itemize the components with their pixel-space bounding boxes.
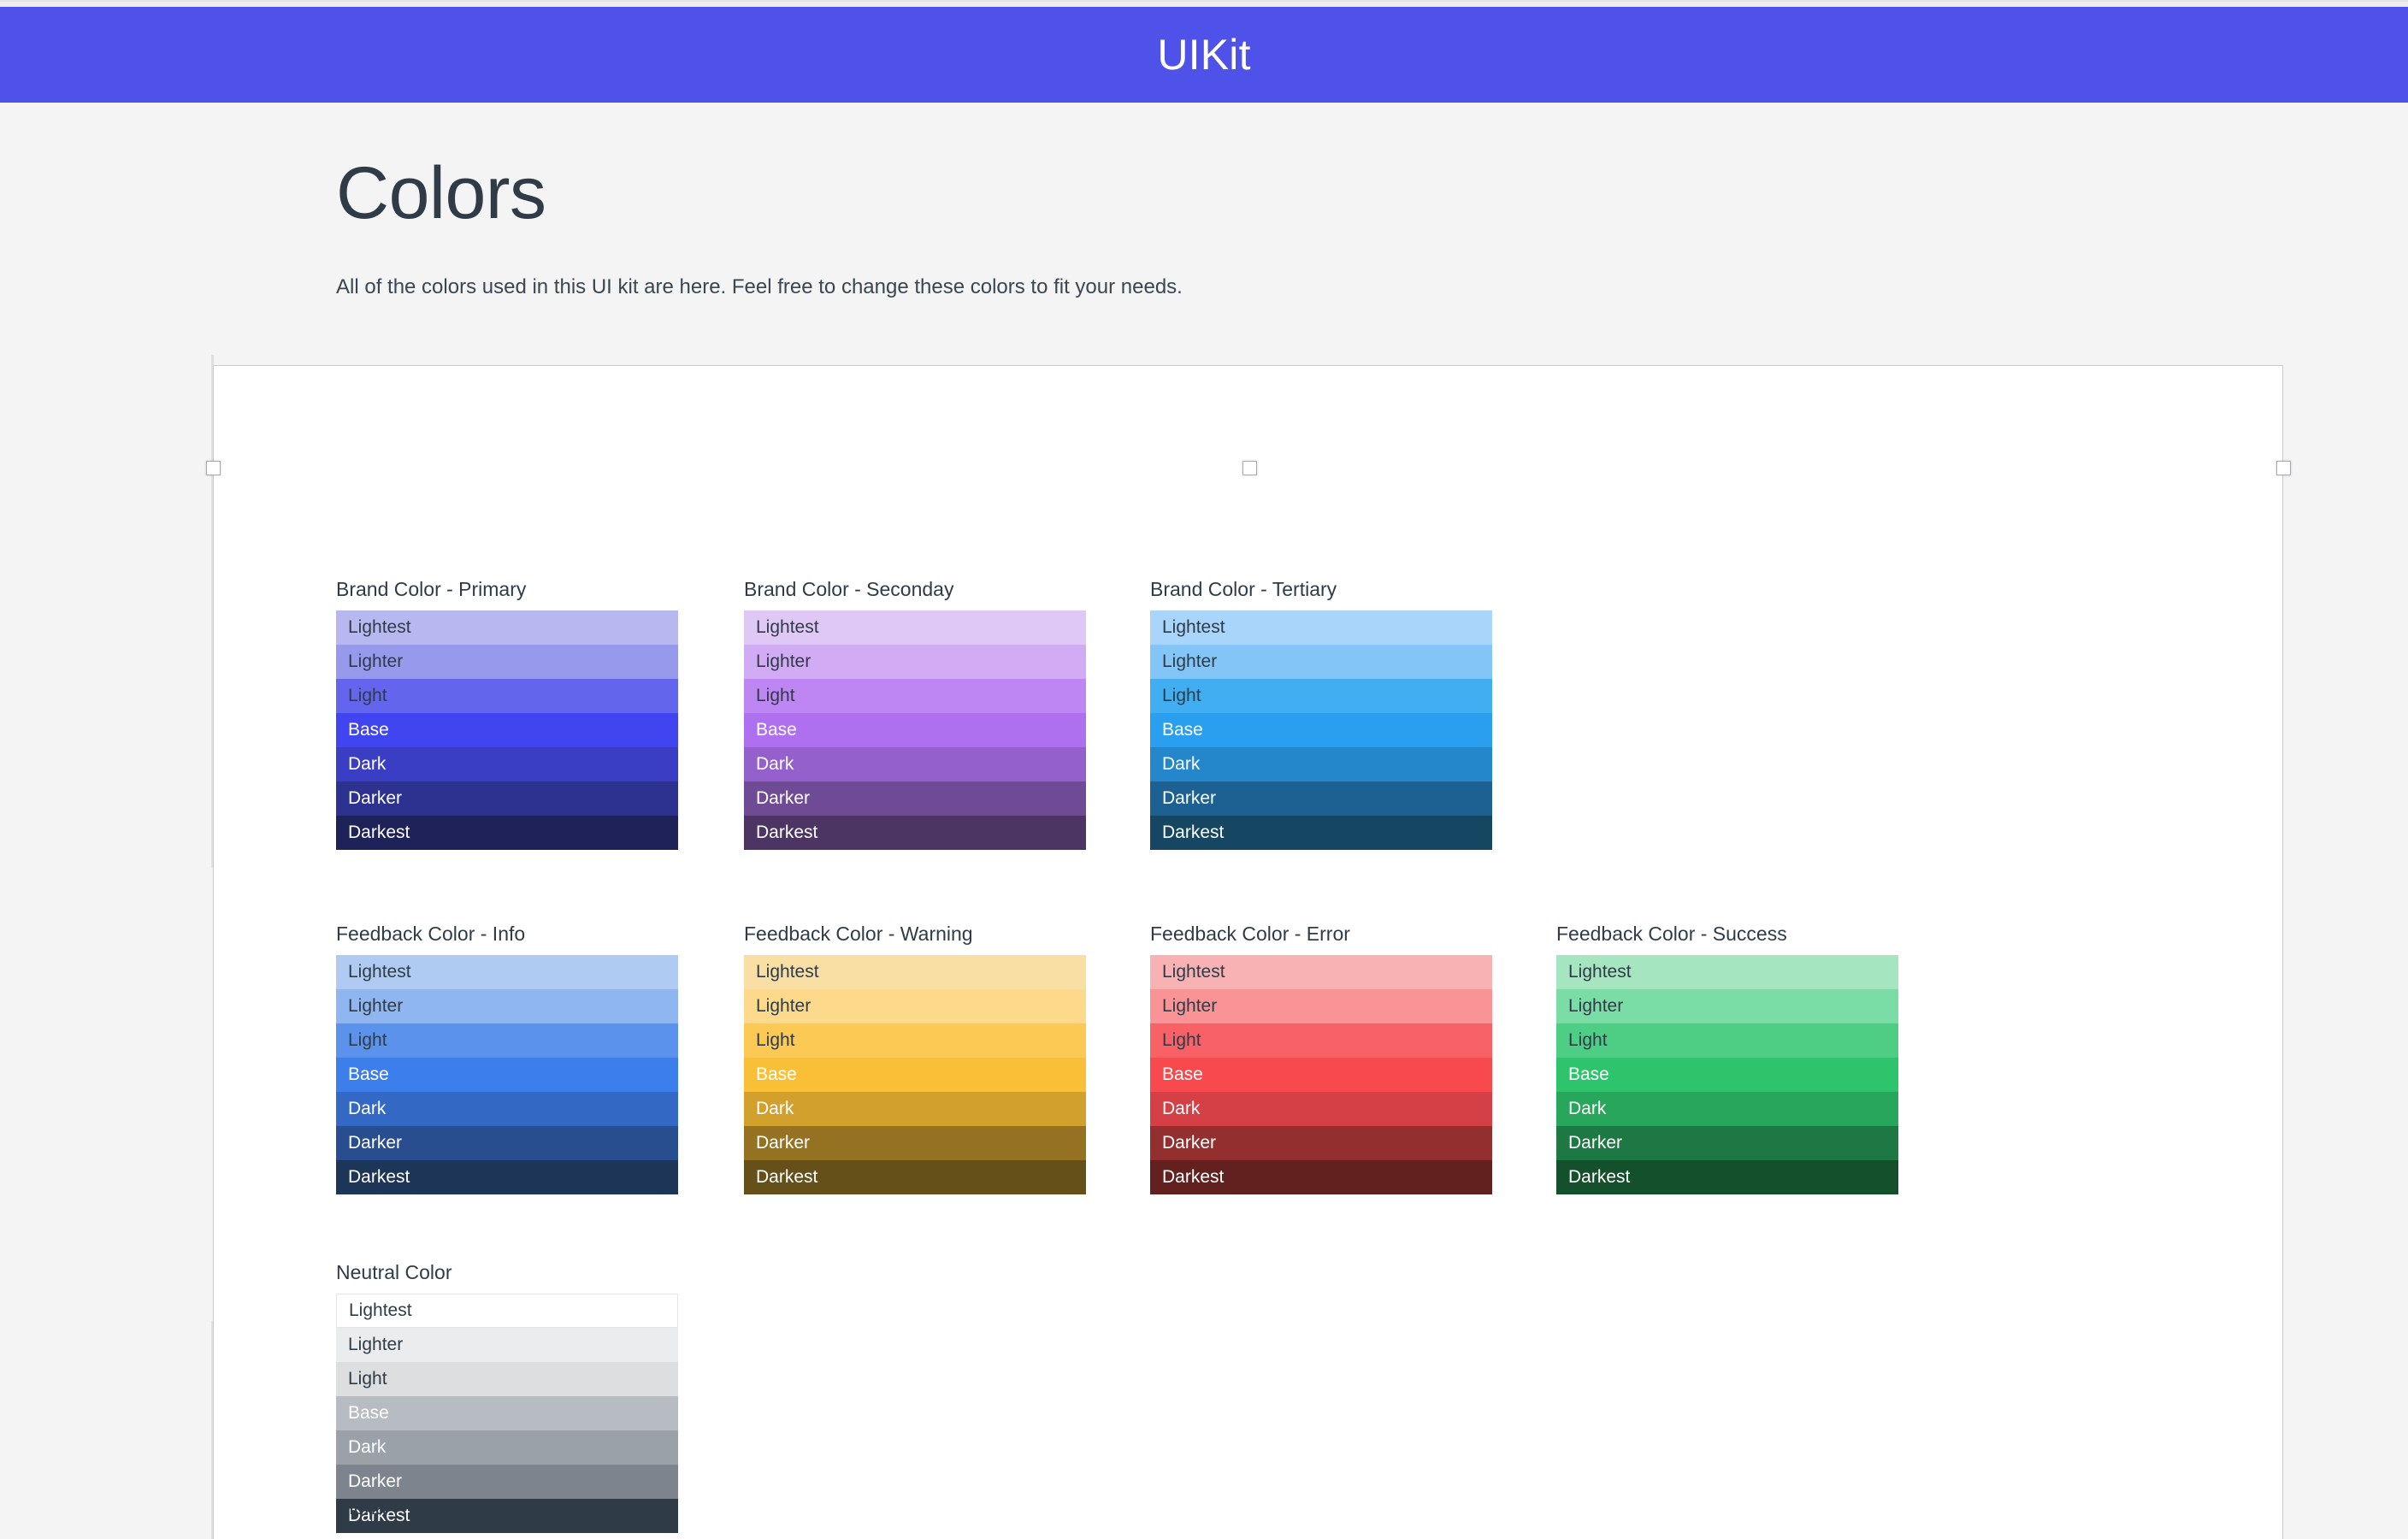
swatch-brand-tertiary-light[interactable]: Light [1150, 679, 1492, 713]
swatch-feedback-info-darker[interactable]: Darker [336, 1126, 678, 1160]
swatch-brand-secondary-dark[interactable]: Dark [744, 747, 1086, 781]
swatch-brand-secondary-darker[interactable]: Darker [744, 781, 1086, 816]
swatch-neutral-darkest[interactable]: Darkest [336, 1499, 678, 1533]
swatch-neutral-lighter[interactable]: Lighter [336, 1328, 678, 1362]
swatch-brand-tertiary-dark[interactable]: Dark [1150, 747, 1492, 781]
swatch-brand-primary-lighter[interactable]: Lighter [336, 645, 678, 679]
swatch-feedback-warning-dark[interactable]: Dark [744, 1092, 1086, 1126]
palette-brand-primary: Brand Color - PrimaryLightestLighterLigh… [336, 578, 678, 850]
page-subtitle: All of the colors used in this UI kit ar… [336, 273, 1704, 302]
swatch-feedback-warning-darkest[interactable]: Darkest [744, 1160, 1086, 1194]
palette-label-brand-tertiary: Brand Color - Tertiary [1150, 578, 1492, 602]
alpha-section-label: Alpha [336, 1496, 387, 1520]
swatch-brand-primary-darkest[interactable]: Darkest [336, 816, 678, 850]
swatch-brand-primary-lightest[interactable]: Lightest [336, 610, 678, 645]
swatch-brand-primary-light[interactable]: Light [336, 679, 678, 713]
app-header: UIKit [0, 7, 2408, 103]
swatch-feedback-error-lighter[interactable]: Lighter [1150, 989, 1492, 1023]
swatch-feedback-error-darkest[interactable]: Darkest [1150, 1160, 1492, 1194]
selection-handle-top-right[interactable] [2276, 461, 2291, 475]
palette-neutral: Neutral ColorLightestLighterLightBaseDar… [336, 1261, 678, 1533]
swatch-stack-feedback-error: LightestLighterLightBaseDarkDarkerDarkes… [1150, 955, 1492, 1194]
swatch-feedback-success-lighter[interactable]: Lighter [1556, 989, 1898, 1023]
palette-grid: Brand Color - PrimaryLightestLighterLigh… [214, 366, 2284, 1539]
selection-handle-top-center[interactable] [1242, 461, 1257, 475]
swatch-stack-neutral: LightestLighterLightBaseDarkDarkerDarkes… [336, 1294, 678, 1533]
swatch-stack-brand-tertiary: LightestLighterLightBaseDarkDarkerDarkes… [1150, 610, 1492, 850]
swatch-feedback-warning-lighter[interactable]: Lighter [744, 989, 1086, 1023]
swatch-stack-brand-secondary: LightestLighterLightBaseDarkDarkerDarkes… [744, 610, 1086, 850]
swatch-feedback-info-dark[interactable]: Dark [336, 1092, 678, 1126]
color-artboard[interactable]: Brand Color - PrimaryLightestLighterLigh… [213, 365, 2283, 1539]
swatch-feedback-error-dark[interactable]: Dark [1150, 1092, 1492, 1126]
swatch-brand-tertiary-darkest[interactable]: Darkest [1150, 816, 1492, 850]
app-title: UIKit [1157, 33, 1250, 76]
palette-brand-secondary: Brand Color - SecondayLightestLighterLig… [744, 578, 1086, 850]
swatch-brand-primary-dark[interactable]: Dark [336, 747, 678, 781]
palette-label-feedback-warning: Feedback Color - Warning [744, 923, 1086, 946]
palette-label-feedback-info: Feedback Color - Info [336, 923, 678, 946]
palette-feedback-success: Feedback Color - SuccessLightestLighterL… [1556, 923, 1898, 1194]
swatch-feedback-error-base[interactable]: Base [1150, 1058, 1492, 1092]
palette-label-brand-secondary: Brand Color - Seconday [744, 578, 1086, 602]
swatch-feedback-info-light[interactable]: Light [336, 1023, 678, 1058]
swatch-feedback-error-darker[interactable]: Darker [1150, 1126, 1492, 1160]
swatch-brand-primary-base[interactable]: Base [336, 713, 678, 747]
palette-feedback-warning: Feedback Color - WarningLightestLighterL… [744, 923, 1086, 1194]
swatch-stack-feedback-warning: LightestLighterLightBaseDarkDarkerDarkes… [744, 955, 1086, 1194]
selection-handle-top-left[interactable] [206, 461, 221, 475]
palette-label-brand-primary: Brand Color - Primary [336, 578, 678, 602]
page-title: Colors [336, 154, 1704, 233]
scrollbar-gap-top [211, 103, 214, 355]
swatch-feedback-warning-lightest[interactable]: Lightest [744, 955, 1086, 989]
swatch-feedback-error-light[interactable]: Light [1150, 1023, 1492, 1058]
swatch-feedback-error-lightest[interactable]: Lightest [1150, 955, 1492, 989]
swatch-neutral-light[interactable]: Light [336, 1362, 678, 1396]
swatch-feedback-success-darkest[interactable]: Darkest [1556, 1160, 1898, 1194]
swatch-neutral-base[interactable]: Base [336, 1396, 678, 1430]
swatch-feedback-success-lightest[interactable]: Lightest [1556, 955, 1898, 989]
swatch-brand-secondary-base[interactable]: Base [744, 713, 1086, 747]
palette-label-neutral: Neutral Color [336, 1261, 678, 1285]
swatch-feedback-success-light[interactable]: Light [1556, 1023, 1898, 1058]
heading-block: Colors All of the colors used in this UI… [336, 154, 1704, 301]
swatch-brand-primary-darker[interactable]: Darker [336, 781, 678, 816]
swatch-brand-secondary-light[interactable]: Light [744, 679, 1086, 713]
swatch-stack-feedback-success: LightestLighterLightBaseDarkDarkerDarkes… [1556, 955, 1898, 1194]
swatch-brand-tertiary-darker[interactable]: Darker [1150, 781, 1492, 816]
swatch-feedback-warning-light[interactable]: Light [744, 1023, 1086, 1058]
page-body[interactable]: Colors All of the colors used in this UI… [0, 103, 2408, 1539]
swatch-feedback-info-base[interactable]: Base [336, 1058, 678, 1092]
window-top-strip [0, 0, 2408, 7]
swatch-feedback-warning-darker[interactable]: Darker [744, 1126, 1086, 1160]
swatch-stack-feedback-info: LightestLighterLightBaseDarkDarkerDarkes… [336, 955, 678, 1194]
swatch-brand-secondary-lightest[interactable]: Lightest [744, 610, 1086, 645]
swatch-feedback-warning-base[interactable]: Base [744, 1058, 1086, 1092]
palette-feedback-info: Feedback Color - InfoLightestLighterLigh… [336, 923, 678, 1194]
palette-feedback-error: Feedback Color - ErrorLightestLighterLig… [1150, 923, 1492, 1194]
palette-label-feedback-success: Feedback Color - Success [1556, 923, 1898, 946]
swatch-brand-tertiary-base[interactable]: Base [1150, 713, 1492, 747]
swatch-feedback-success-dark[interactable]: Dark [1556, 1092, 1898, 1126]
swatch-neutral-lightest[interactable]: Lightest [336, 1294, 678, 1328]
swatch-feedback-success-base[interactable]: Base [1556, 1058, 1898, 1092]
swatch-stack-brand-primary: LightestLighterLightBaseDarkDarkerDarkes… [336, 610, 678, 850]
swatch-brand-secondary-lighter[interactable]: Lighter [744, 645, 1086, 679]
swatch-neutral-dark[interactable]: Dark [336, 1430, 678, 1465]
swatch-neutral-darker[interactable]: Darker [336, 1465, 678, 1499]
swatch-feedback-info-lightest[interactable]: Lightest [336, 955, 678, 989]
swatch-brand-secondary-darkest[interactable]: Darkest [744, 816, 1086, 850]
swatch-brand-tertiary-lighter[interactable]: Lighter [1150, 645, 1492, 679]
swatch-feedback-info-darkest[interactable]: Darkest [336, 1160, 678, 1194]
swatch-feedback-success-darker[interactable]: Darker [1556, 1126, 1898, 1160]
palette-label-feedback-error: Feedback Color - Error [1150, 923, 1492, 946]
swatch-brand-tertiary-lightest[interactable]: Lightest [1150, 610, 1492, 645]
window-top-edge [0, 0, 2408, 2]
swatch-feedback-info-lighter[interactable]: Lighter [336, 989, 678, 1023]
palette-brand-tertiary: Brand Color - TertiaryLightestLighterLig… [1150, 578, 1492, 850]
